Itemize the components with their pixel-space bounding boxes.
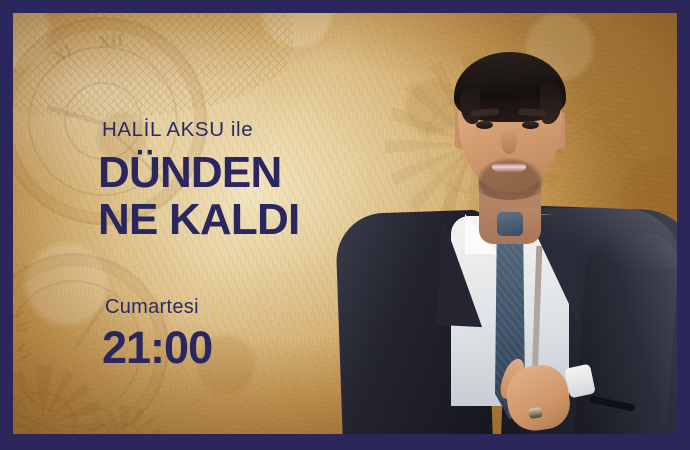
schedule-block: Cumartesi 21:00 — [102, 296, 212, 372]
broadcast-day: Cumartesi — [105, 296, 212, 319]
presenter-photo — [353, 36, 677, 434]
host-name-line: HALİL AKSU ile — [102, 118, 299, 142]
mouth — [492, 162, 526, 173]
broadcast-time: 21:00 — [102, 324, 212, 372]
show-title: DÜNDEN NE KALDI — [98, 149, 299, 243]
promo-banner: XI XII VI VII — [0, 0, 690, 450]
eye-right — [522, 121, 539, 129]
poster-canvas: XI XII VI VII — [13, 13, 677, 434]
show-title-line-1: DÜNDEN — [98, 148, 281, 197]
eye-left — [476, 121, 493, 129]
show-title-line-2: NE KALDI — [98, 196, 299, 243]
title-text-block: HALİL AKSU ile DÜNDEN NE KALDI — [98, 118, 299, 243]
shoulder-highlight — [483, 208, 677, 268]
finger-ring — [528, 407, 542, 419]
